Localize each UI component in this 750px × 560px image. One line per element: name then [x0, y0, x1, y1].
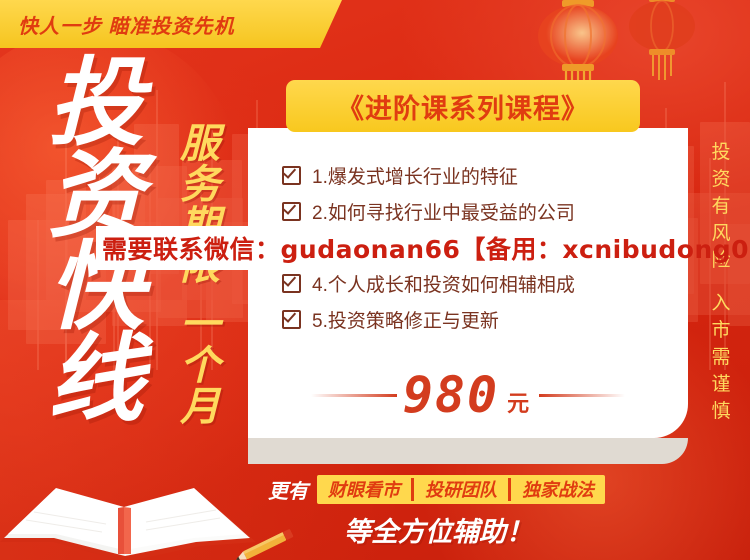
service-period-column: 服 务 期 限 一 个 月	[172, 124, 228, 428]
more-label: 更有	[268, 475, 308, 504]
course-item-label: 2.如何寻找行业中最受益的公司	[312, 198, 575, 225]
feature-tag: 独家战法	[511, 475, 605, 504]
price-rule-right	[539, 394, 625, 397]
service-period-char: 务	[180, 165, 220, 206]
price-unit: 元	[507, 386, 529, 418]
contact-watermark-overlay: 需要联系微信：gudaonan66【备用：xcnibudong0105】	[96, 226, 662, 270]
headline-char: 投	[48, 58, 144, 150]
disclaimer-char: 市	[711, 318, 730, 345]
course-item-label: 4.个人成长和投资如何相辅相成	[312, 270, 575, 297]
price-amount: 980	[403, 370, 499, 420]
checkbox-checked-icon	[282, 202, 301, 221]
course-title-plate: 《进阶课系列课程》	[286, 80, 640, 132]
disclaimer-char: 有	[711, 194, 730, 221]
disclaimer-char: 资	[711, 167, 730, 194]
top-ribbon-text: 快人一步 瞄准投资先机	[18, 10, 235, 39]
risk-disclaimer: 投 资 有 风 险 入 市 需 谨 慎	[706, 140, 736, 426]
course-item-label: 1.爆发式增长行业的特征	[312, 162, 518, 189]
bottom-tag-row: 更有 财眼看市 投研团队 独家战法	[268, 474, 605, 504]
price-row: 980 元	[262, 366, 674, 424]
disclaimer-char: 慎	[711, 399, 730, 426]
bottom-tagline: 等全方位辅助！	[344, 510, 533, 549]
service-duration-char: 一	[180, 305, 220, 346]
course-list-item: 4.个人成长和投资如何相辅相成	[282, 265, 682, 301]
disclaimer-char: 需	[711, 345, 730, 372]
headline-char: 线	[48, 334, 144, 426]
content-card-shadow	[248, 438, 688, 464]
course-list-item: 5.投资策略修正与更新	[282, 301, 682, 337]
price-rule-left	[311, 394, 397, 397]
promotional-banner: 快人一步 瞄准投资先机 投 资 快 线 服 务 期 限 一 个 月 《进阶课系列…	[0, 0, 750, 560]
feature-tag: 财眼看市	[317, 475, 411, 504]
checkbox-checked-icon	[282, 310, 301, 329]
course-list-item: 1.爆发式增长行业的特征	[282, 157, 682, 193]
course-list-item: 2.如何寻找行业中最受益的公司	[282, 193, 682, 229]
course-title-text: 《进阶课系列课程》	[337, 87, 589, 126]
disclaimer-char: 投	[711, 140, 730, 167]
bottom-banner: 更有 财眼看市 投研团队 独家战法 等全方位辅助！	[0, 464, 750, 560]
service-period-char: 服	[180, 124, 220, 165]
top-ribbon: 快人一步 瞄准投资先机	[0, 0, 342, 48]
service-duration-char: 月	[180, 387, 220, 428]
disclaimer-char: 入	[711, 291, 730, 318]
feature-tag-strip: 财眼看市 投研团队 独家战法	[317, 475, 605, 504]
checkbox-checked-icon	[282, 166, 301, 185]
contact-watermark-text: 需要联系微信：gudaonan66【备用：xcnibudong0105】	[96, 230, 750, 266]
service-duration-char: 个	[180, 346, 220, 387]
checkbox-checked-icon	[282, 274, 301, 293]
disclaimer-char: 谨	[711, 372, 730, 399]
course-item-label: 5.投资策略修正与更新	[312, 306, 499, 333]
feature-tag: 投研团队	[414, 475, 508, 504]
